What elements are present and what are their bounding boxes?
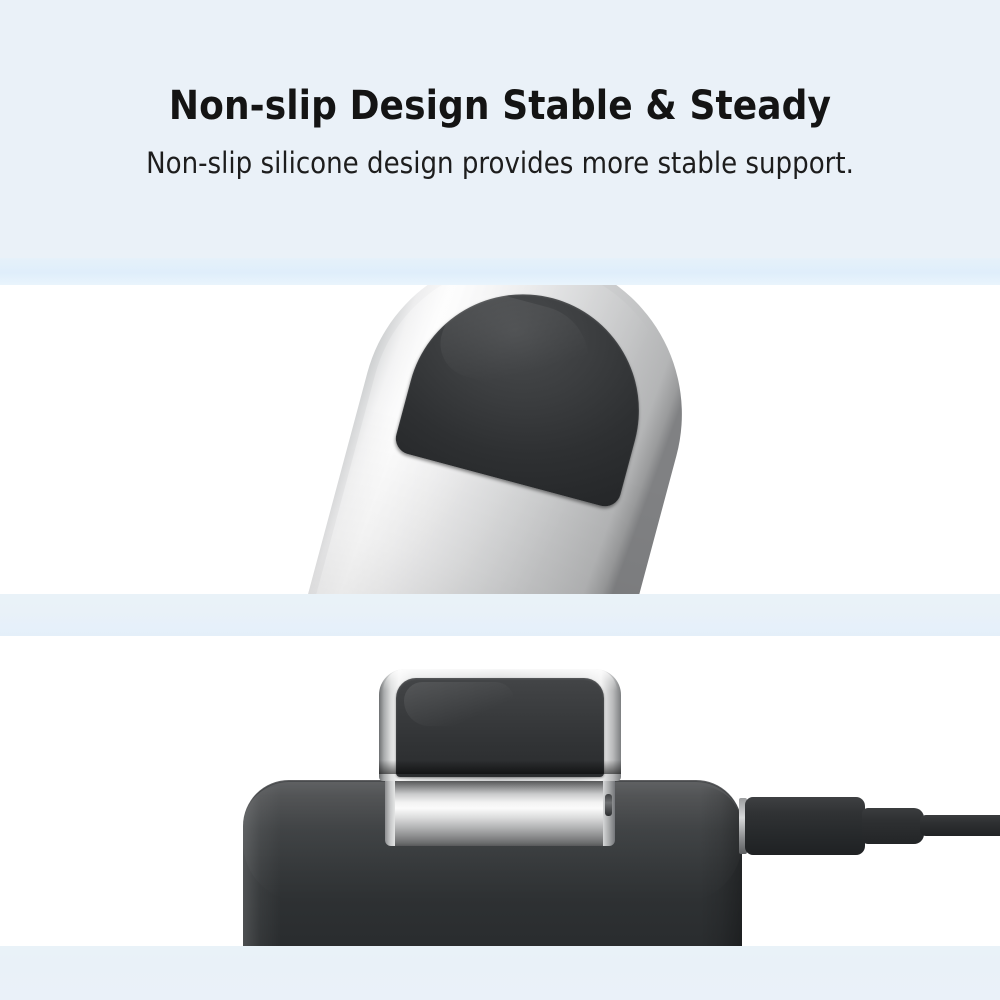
- footer-band: [0, 946, 1000, 1000]
- charging-cable-strain-relief: [862, 808, 924, 844]
- page-title: Non-slip Design Stable & Steady: [0, 84, 1000, 129]
- charging-cable-wire: [920, 815, 1000, 836]
- stand-base-panel: [0, 636, 1000, 946]
- page-subtitle: Non-slip silicone design provides more s…: [0, 146, 1000, 181]
- header-band: [0, 0, 1000, 277]
- header-band-fade: [0, 258, 1000, 285]
- product-feature-page: Non-slip Design Stable & Steady Non-slip…: [0, 0, 1000, 1000]
- stand-upright-arm-shadow: [379, 760, 621, 774]
- stand-arm-closeup: [297, 285, 717, 594]
- stand-base-right-edge: [700, 786, 742, 946]
- divider-band: [0, 594, 1000, 636]
- stand-upright-pad-gloss: [404, 682, 514, 726]
- stand-base-left-edge: [243, 786, 281, 946]
- silicone-pad-closeup-panel: [0, 285, 1000, 594]
- charging-cable-connector: [745, 797, 865, 855]
- stand-hinge-screw: [605, 794, 612, 816]
